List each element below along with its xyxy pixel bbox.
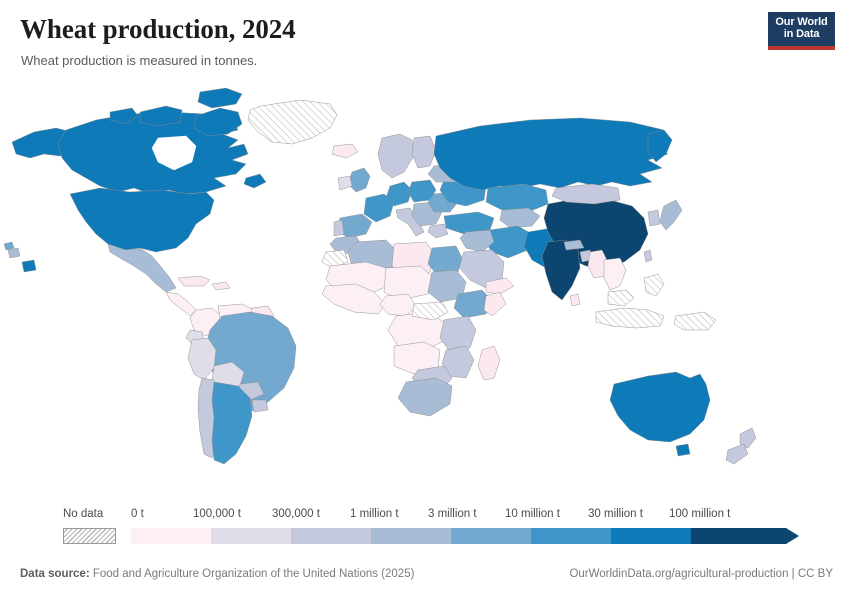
legend-bin-2[interactable]	[291, 528, 371, 544]
island-tasmania[interactable]	[676, 444, 690, 456]
island-pacific-fiji[interactable]	[22, 260, 36, 272]
legend-bin-0[interactable]	[131, 528, 211, 544]
data-source-value: Food and Agriculture Organization of the…	[90, 568, 415, 580]
legend-bin-7[interactable]	[691, 528, 786, 544]
owid-logo[interactable]: Our World in Data	[768, 12, 835, 50]
data-source-label: Data source:	[20, 568, 90, 580]
chart-footer: Data source: Food and Agriculture Organi…	[0, 562, 850, 600]
world-map-svg[interactable]	[0, 82, 850, 502]
data-source-text: Data source: Food and Agriculture Organi…	[20, 568, 414, 580]
legend-no-data-swatch[interactable]	[63, 528, 116, 544]
world-choropleth-map[interactable]	[0, 82, 850, 502]
country-russia[interactable]	[434, 118, 672, 190]
legend-bin-4[interactable]	[451, 528, 531, 544]
country-nepal-bhutan[interactable]	[564, 240, 584, 250]
legend-tick-labels: No data 0 t 100,000 t 300,000 t 1 millio…	[0, 508, 850, 526]
legend-bin-1[interactable]	[211, 528, 291, 544]
legend-tick-0: 0 t	[131, 508, 144, 520]
legend-tick-4: 3 million t	[428, 508, 477, 520]
legend-label-no-data: No data	[63, 508, 103, 520]
owid-url-text[interactable]: OurWorldinData.org/agricultural-producti…	[569, 568, 833, 580]
page-title: Wheat production, 2024	[20, 14, 296, 45]
country-portugal[interactable]	[334, 220, 344, 236]
legend-tick-2: 300,000 t	[272, 508, 320, 520]
legend-bin-5[interactable]	[531, 528, 611, 544]
legend-tick-5: 10 million t	[505, 508, 560, 520]
legend-bin-6[interactable]	[611, 528, 691, 544]
island-pacific-west[interactable]	[8, 248, 20, 258]
country-korea[interactable]	[648, 210, 660, 226]
country-sri-lanka[interactable]	[570, 294, 580, 306]
legend-tick-6: 30 million t	[588, 508, 643, 520]
legend-arrow-cap	[786, 528, 799, 544]
country-uruguay[interactable]	[252, 400, 268, 412]
map-legend[interactable]: No data 0 t 100,000 t 300,000 t 1 millio…	[0, 508, 850, 554]
legend-bin-3[interactable]	[371, 528, 451, 544]
legend-tick-3: 1 million t	[350, 508, 399, 520]
legend-tick-1: 100,000 t	[193, 508, 241, 520]
legend-tick-7: 100 million t	[669, 508, 730, 520]
owid-logo-line2: in Data	[784, 29, 820, 41]
chart-header: Wheat production, 2024 Wheat production …	[0, 0, 850, 78]
chart-subtitle: Wheat production is measured in tonnes.	[21, 53, 257, 68]
